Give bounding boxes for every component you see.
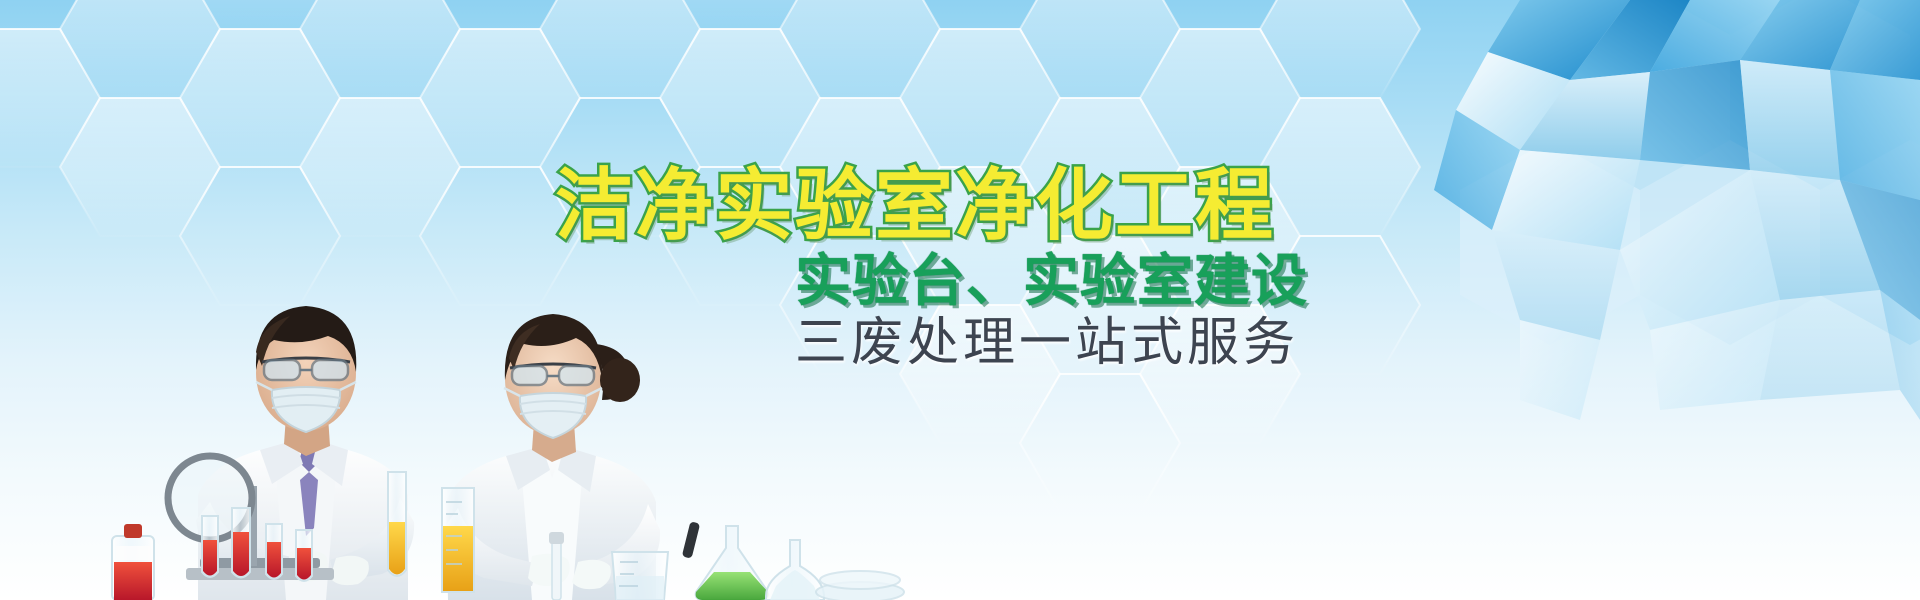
petri-dish-stack — [816, 571, 904, 600]
reagent-bottle-red — [112, 524, 154, 600]
pipette — [549, 532, 564, 600]
beaker-clear — [612, 552, 668, 600]
crystal-polygon-cluster — [1220, 0, 1920, 600]
crystal-cluster-svg — [1220, 0, 1920, 600]
lab-scientists-svg — [90, 240, 910, 600]
graduated-cylinder-yellow — [442, 488, 474, 592]
lab-scientists-photo — [90, 240, 910, 600]
erlenmeyer-flask-green — [696, 526, 769, 600]
headline-line-1: 洁净实验室净化工程 — [555, 143, 1275, 255]
test-tube-yellow-left — [388, 472, 406, 576]
banner-root: 洁净实验室净化工程 实验台、实验室建设 三废处理一站式服务 — [0, 0, 1920, 600]
